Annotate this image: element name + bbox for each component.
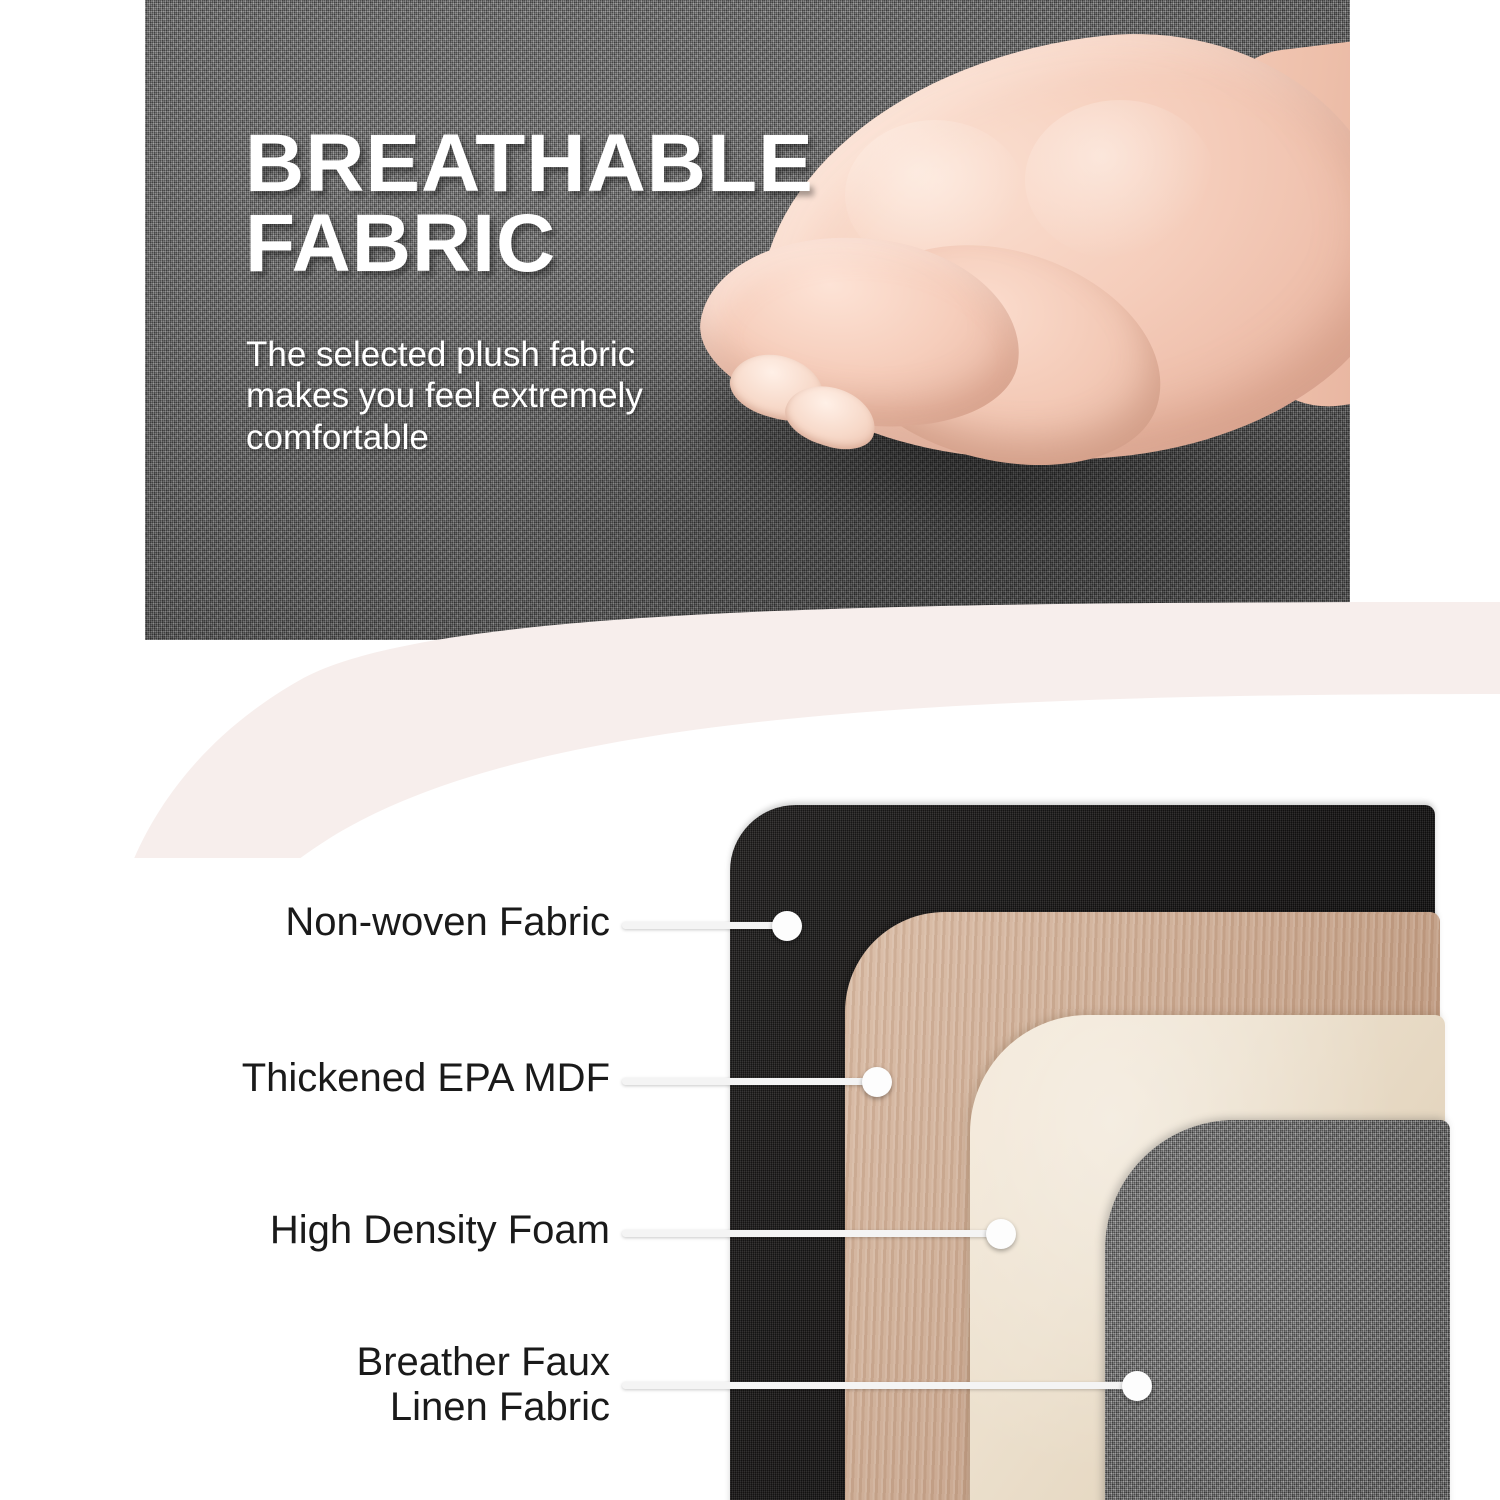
callout-label-breather-faux-linen-line1: Breather Faux xyxy=(290,1340,610,1385)
callout-label-breather-faux-linen-line2: Linen Fabric xyxy=(290,1385,610,1430)
leader-line-high-density-foam xyxy=(622,1230,1000,1237)
leader-line-thickened-epa-mdf xyxy=(622,1078,876,1085)
callout-label-high-density-foam: High Density Foam xyxy=(230,1208,610,1254)
callout-dot-high-density-foam xyxy=(986,1219,1016,1249)
leader-line-breather-faux-linen xyxy=(622,1382,1142,1389)
callout-dot-non-woven-fabric xyxy=(772,911,802,941)
callout-dot-thickened-epa-mdf xyxy=(862,1067,892,1097)
callout-group: Non-woven Fabric Thickened EPA MDF High … xyxy=(0,0,1500,1500)
callout-label-breather-faux-linen: Breather Faux Linen Fabric xyxy=(290,1340,610,1430)
callout-label-non-woven-fabric: Non-woven Fabric xyxy=(240,900,610,946)
callout-dot-breather-faux-linen xyxy=(1122,1371,1152,1401)
leader-line-non-woven-fabric xyxy=(622,922,790,929)
infographic-page: BREATHABLE FABRIC The selected plush fab… xyxy=(0,0,1500,1500)
callout-label-thickened-epa-mdf: Thickened EPA MDF xyxy=(215,1056,610,1102)
